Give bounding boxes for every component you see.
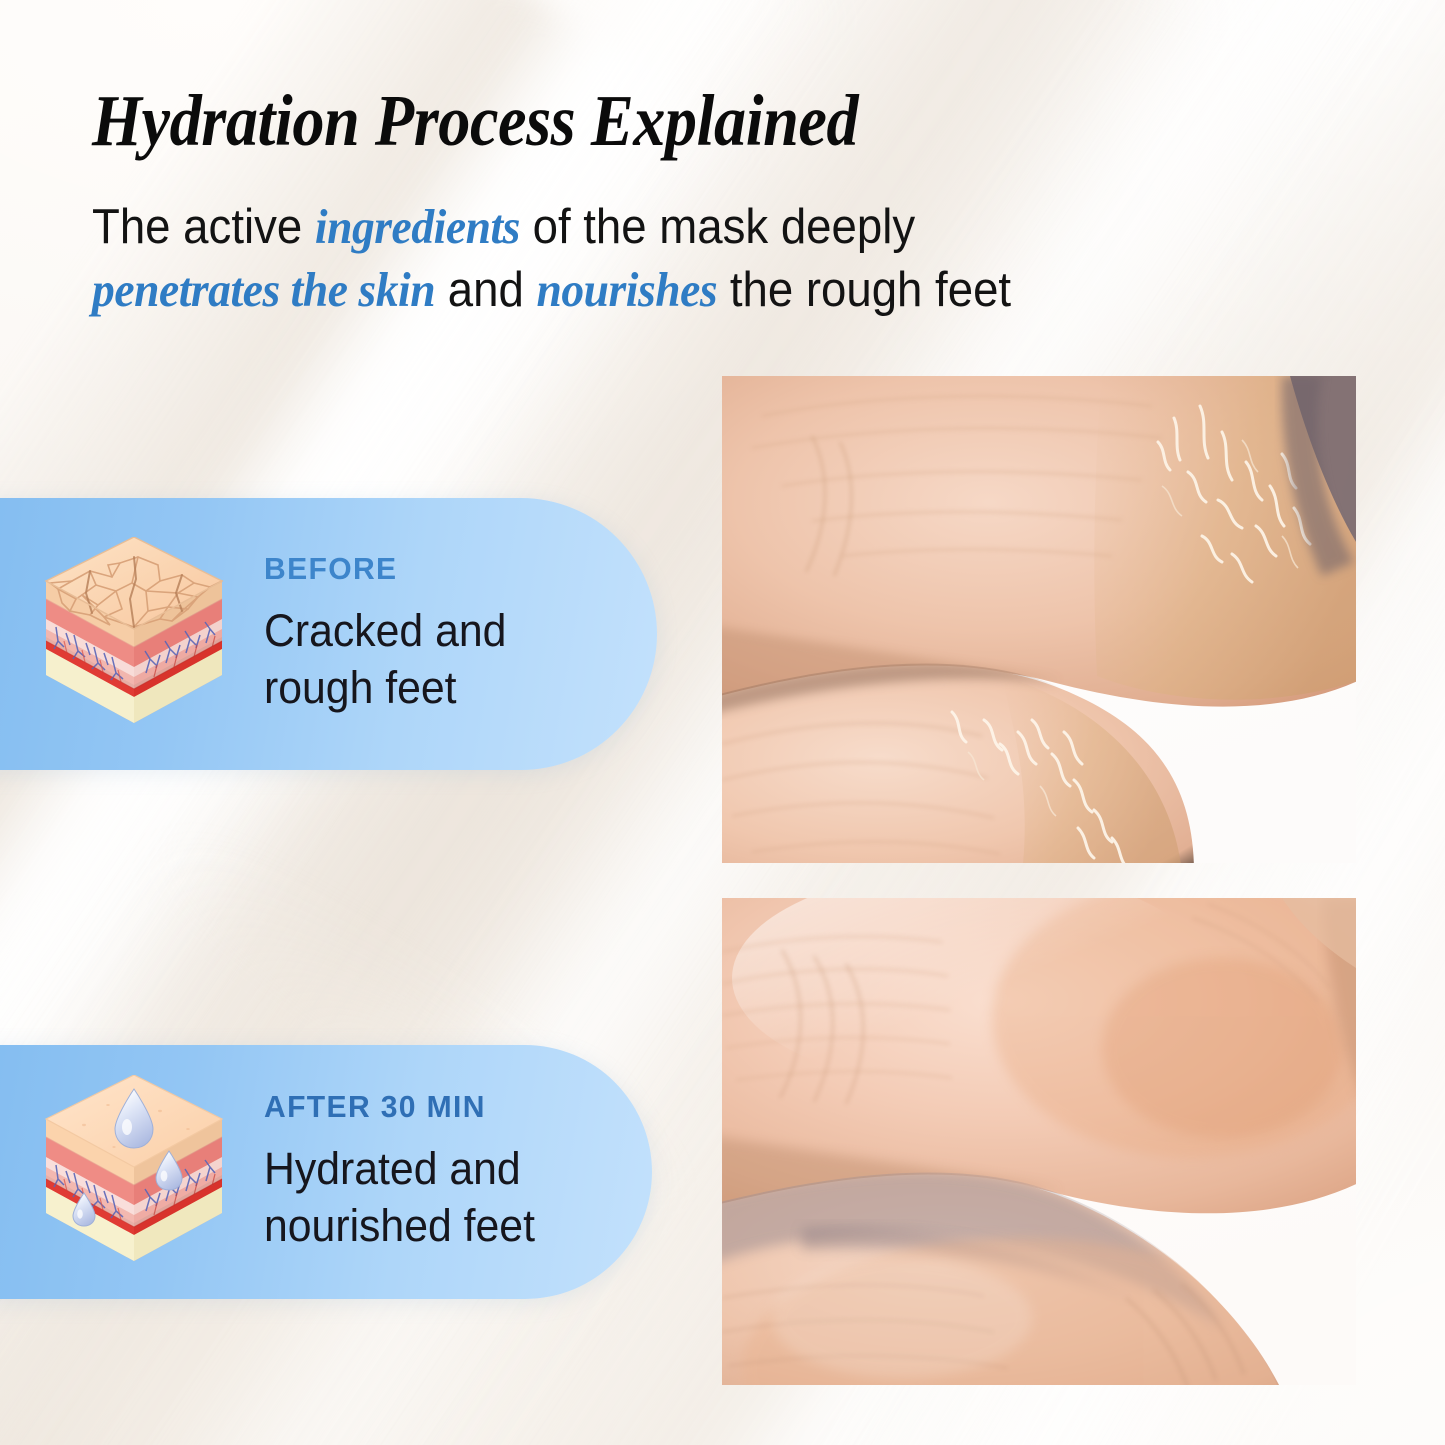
before-description: Cracked and rough feet <box>264 603 506 716</box>
cracked-skin-cross-section-icon <box>42 537 226 732</box>
after-text-block: AFTER 30 MIN Hydrated and nourished feet <box>264 1089 549 1254</box>
subtitle-text: the rough feet <box>717 263 1011 317</box>
before-kicker: BEFORE <box>264 551 512 587</box>
page-subtitle: The active ingredients of the mask deepl… <box>92 196 1003 321</box>
subtitle-line-1: The active ingredients of the mask deepl… <box>92 196 1003 259</box>
after-description: Hydrated and nourished feet <box>264 1141 535 1254</box>
subtitle-text: and <box>435 263 536 317</box>
subtitle-emphasis-penetrates: penetrates the skin <box>92 262 435 317</box>
subtitle-text: The active <box>92 200 315 254</box>
page-title: Hydration Process Explained <box>92 84 858 157</box>
after-photo <box>722 898 1356 1385</box>
before-photo <box>722 376 1356 863</box>
before-card: BEFORE Cracked and rough feet <box>0 498 657 770</box>
hydrated-skin-cross-section-icon <box>42 1075 226 1270</box>
subtitle-text: of the mask deeply <box>520 200 915 254</box>
subtitle-line-2: penetrates the skin and nourishes the ro… <box>92 259 1003 322</box>
before-text-block: BEFORE Cracked and rough feet <box>264 551 519 716</box>
subtitle-emphasis-ingredients: ingredients <box>315 199 520 254</box>
subtitle-emphasis-nourishes: nourishes <box>536 262 717 317</box>
after-kicker: AFTER 30 MIN <box>264 1089 541 1125</box>
after-card: AFTER 30 MIN Hydrated and nourished feet <box>0 1045 652 1299</box>
poster-canvas: Hydration Process Explained The active i… <box>0 0 1445 1445</box>
